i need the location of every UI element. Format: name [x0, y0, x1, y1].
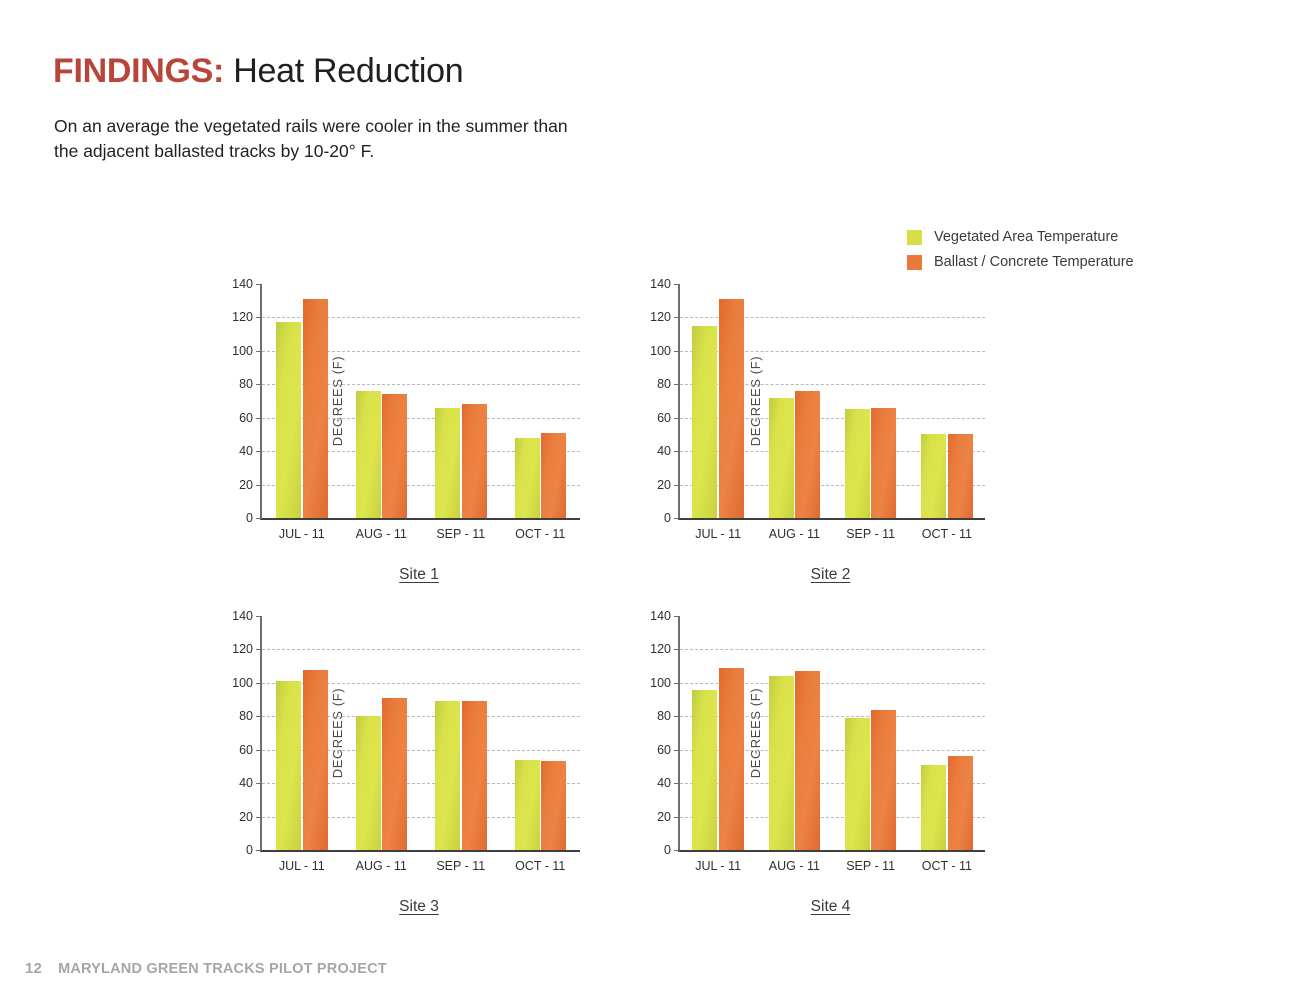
y-tick-mark: [256, 817, 261, 818]
bar-ballast: [462, 701, 487, 850]
bar-vegetated: [921, 434, 946, 518]
x-axis-tick-label: SEP - 11: [846, 859, 895, 873]
page-title-kicker: FINDINGS:: [53, 52, 224, 90]
x-axis-tick-label: AUG - 11: [769, 859, 820, 873]
y-tick-mark: [256, 351, 261, 352]
y-tick-mark: [256, 616, 261, 617]
y-tick-mark: [256, 485, 261, 486]
y-tick-mark: [674, 418, 679, 419]
bar-ballast: [382, 394, 407, 518]
y-tick-mark: [674, 384, 679, 385]
gridline: [680, 649, 985, 650]
x-axis-tick-label: JUL - 11: [695, 527, 741, 541]
y-axis-tick-label: 80: [657, 709, 671, 723]
legend-label-vegetated: Vegetated Area Temperature: [934, 229, 1118, 245]
legend-swatch-ballast: [907, 255, 922, 270]
bar-vegetated: [356, 716, 381, 850]
bar-ballast: [462, 404, 487, 518]
y-axis-tick-label: 40: [239, 444, 253, 458]
y-axis-tick-label: 40: [657, 776, 671, 790]
y-tick-mark: [674, 683, 679, 684]
y-tick-mark: [674, 351, 679, 352]
legend-swatch-vegetated: [907, 230, 922, 245]
x-axis-tick-label: SEP - 11: [436, 527, 485, 541]
y-axis-tick-label: 20: [657, 478, 671, 492]
y-axis-tick-label: 20: [239, 478, 253, 492]
y-axis-tick-label: 80: [239, 709, 253, 723]
y-tick-mark: [256, 384, 261, 385]
x-axis-tick-label: OCT - 11: [922, 859, 972, 873]
y-tick-mark: [674, 817, 679, 818]
x-axis-tick-label: JUL - 11: [695, 859, 741, 873]
y-tick-mark: [674, 850, 679, 851]
bar-vegetated: [921, 765, 946, 850]
footer-document-title: MARYLAND GREEN TRACKS PILOT PROJECT: [58, 961, 387, 977]
plot-area: 020406080100120140JUL - 11AUG - 11SEP - …: [260, 284, 580, 520]
y-axis-tick-label: 100: [650, 344, 671, 358]
y-tick-mark: [674, 451, 679, 452]
legend-item-vegetated: Vegetated Area Temperature: [907, 229, 1134, 245]
bar-ballast: [382, 698, 407, 850]
legend-label-ballast: Ballast / Concrete Temperature: [934, 254, 1134, 270]
chart-caption: Site 2: [811, 566, 851, 584]
y-axis-tick-label: 60: [657, 411, 671, 425]
y-axis-tick-label: 60: [239, 743, 253, 757]
y-tick-mark: [674, 716, 679, 717]
y-tick-mark: [256, 683, 261, 684]
y-axis-tick-label: 40: [657, 444, 671, 458]
y-tick-mark: [674, 649, 679, 650]
chart-caption: Site 1: [399, 566, 439, 584]
y-tick-mark: [256, 284, 261, 285]
x-axis-tick-label: AUG - 11: [769, 527, 820, 541]
y-tick-mark: [674, 317, 679, 318]
y-axis-tick-label: 0: [664, 511, 671, 525]
y-axis-tick-label: 120: [650, 310, 671, 324]
footer: 12 MARYLAND GREEN TRACKS PILOT PROJECT: [25, 960, 387, 977]
bar-vegetated: [845, 409, 870, 518]
y-axis-tick-label: 20: [239, 810, 253, 824]
gridline: [262, 649, 580, 650]
legend-item-ballast: Ballast / Concrete Temperature: [907, 254, 1134, 270]
chart-caption: Site 4: [811, 898, 851, 916]
y-tick-mark: [674, 518, 679, 519]
plot-area: 020406080100120140JUL - 11AUG - 11SEP - …: [678, 284, 985, 520]
bar-ballast: [541, 433, 566, 518]
chart-legend: Vegetated Area Temperature Ballast / Con…: [907, 229, 1134, 270]
bar-vegetated: [276, 322, 301, 518]
bar-ballast: [303, 299, 328, 518]
bar-vegetated: [515, 438, 540, 518]
chart-caption: Site 3: [399, 898, 439, 916]
bar-vegetated: [845, 718, 870, 850]
bar-ballast: [871, 710, 896, 850]
y-axis-tick-label: 60: [239, 411, 253, 425]
y-tick-mark: [674, 750, 679, 751]
bar-vegetated: [435, 408, 460, 518]
bar-vegetated: [769, 676, 794, 850]
bar-ballast: [719, 668, 744, 850]
x-axis-tick-label: OCT - 11: [515, 527, 565, 541]
bar-vegetated: [692, 690, 717, 850]
bar-vegetated: [276, 681, 301, 850]
y-tick-mark: [256, 783, 261, 784]
bar-vegetated: [515, 760, 540, 850]
bar-ballast: [871, 408, 896, 518]
bar-ballast: [795, 391, 820, 518]
y-axis-tick-label: 100: [232, 676, 253, 690]
bar-vegetated: [356, 391, 381, 518]
x-axis-tick-label: JUL - 11: [279, 527, 325, 541]
bar-vegetated: [769, 398, 794, 518]
y-tick-mark: [256, 518, 261, 519]
y-axis-tick-label: 140: [232, 609, 253, 623]
y-axis-tick-label: 0: [246, 843, 253, 857]
y-axis-tick-label: 100: [232, 344, 253, 358]
y-axis-tick-label: 40: [239, 776, 253, 790]
footer-page-number: 12: [25, 960, 42, 977]
bar-ballast: [719, 299, 744, 518]
x-axis-tick-label: AUG - 11: [356, 527, 407, 541]
y-axis-tick-label: 120: [650, 642, 671, 656]
bar-ballast: [948, 434, 973, 518]
bar-ballast: [303, 670, 328, 851]
bar-vegetated: [692, 326, 717, 518]
y-tick-mark: [256, 649, 261, 650]
y-tick-mark: [256, 750, 261, 751]
y-axis-tick-label: 20: [657, 810, 671, 824]
y-tick-mark: [674, 783, 679, 784]
y-axis-tick-label: 120: [232, 642, 253, 656]
plot-area: 020406080100120140JUL - 11AUG - 11SEP - …: [678, 616, 985, 852]
y-axis-tick-label: 120: [232, 310, 253, 324]
y-tick-mark: [256, 418, 261, 419]
bar-ballast: [795, 671, 820, 850]
x-axis-tick-label: OCT - 11: [515, 859, 565, 873]
y-axis-tick-label: 0: [246, 511, 253, 525]
page-title-rest: Heat Reduction: [224, 52, 463, 90]
x-axis-tick-label: OCT - 11: [922, 527, 972, 541]
y-axis-tick-label: 80: [657, 377, 671, 391]
y-axis-tick-label: 140: [232, 277, 253, 291]
bar-vegetated: [435, 701, 460, 850]
x-axis-tick-label: JUL - 11: [279, 859, 325, 873]
bar-ballast: [948, 756, 973, 850]
y-axis-tick-label: 100: [650, 676, 671, 690]
y-tick-mark: [674, 485, 679, 486]
y-tick-mark: [256, 850, 261, 851]
bar-ballast: [541, 761, 566, 850]
y-tick-mark: [674, 284, 679, 285]
y-tick-mark: [256, 716, 261, 717]
x-axis-tick-label: SEP - 11: [436, 859, 485, 873]
y-axis-tick-label: 0: [664, 843, 671, 857]
y-axis-tick-label: 140: [650, 609, 671, 623]
y-axis-tick-label: 80: [239, 377, 253, 391]
y-tick-mark: [674, 616, 679, 617]
intro-paragraph: On an average the vegetated rails were c…: [54, 114, 594, 164]
y-tick-mark: [256, 317, 261, 318]
page-title: FINDINGS: Heat Reduction: [53, 52, 463, 91]
y-axis-tick-label: 60: [657, 743, 671, 757]
y-axis-tick-label: 140: [650, 277, 671, 291]
y-tick-mark: [256, 451, 261, 452]
x-axis-tick-label: SEP - 11: [846, 527, 895, 541]
plot-area: 020406080100120140JUL - 11AUG - 11SEP - …: [260, 616, 580, 852]
x-axis-tick-label: AUG - 11: [356, 859, 407, 873]
